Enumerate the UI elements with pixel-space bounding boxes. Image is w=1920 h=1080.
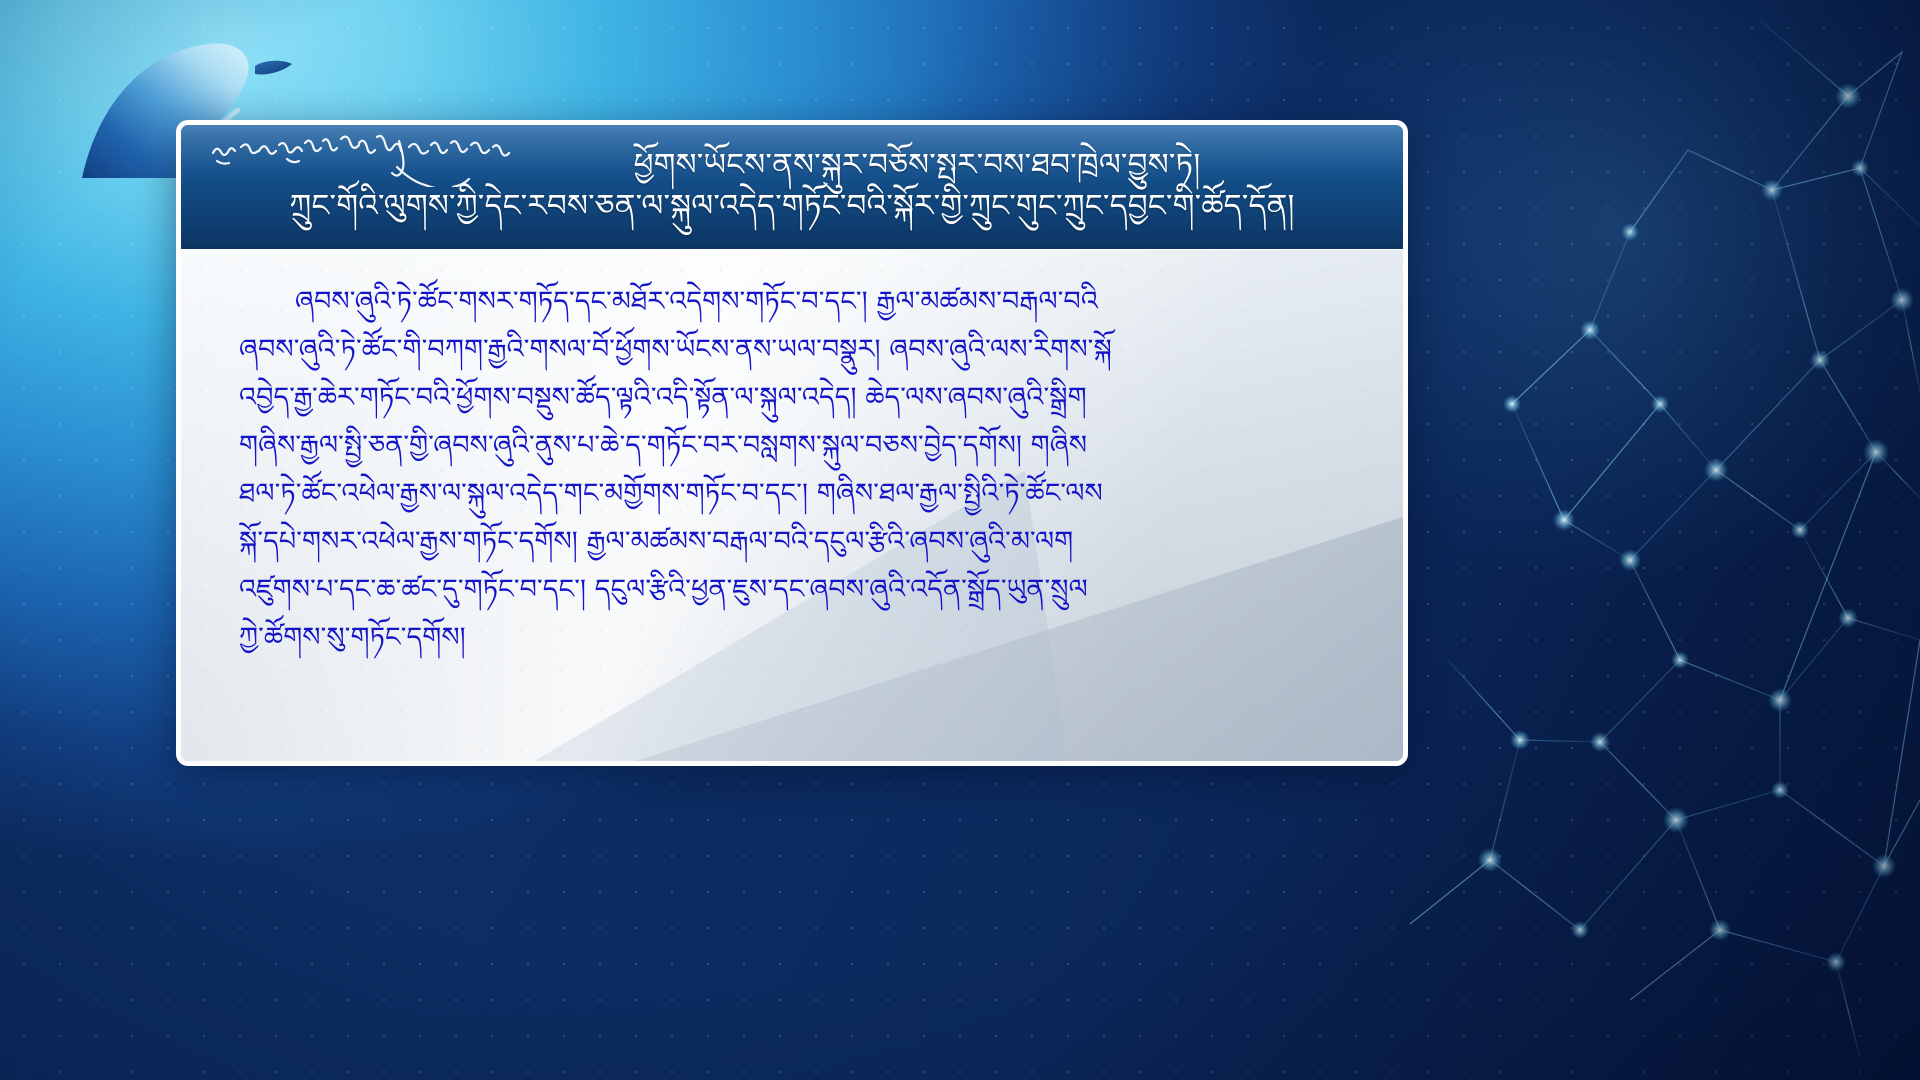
card-body-panel: ཞབས་ཞུའི་ཏེ་ཚོང་གསར་གཏོད་དང་མཐོར་འདེགས་ག…	[176, 250, 1408, 766]
body-line: སྐོ་དཔེ་གསར་འཕེལ་རྒྱས་གཏོང་དགོས། རྒྱལ་མཚ…	[239, 518, 1347, 566]
card-header: ཕྱོགས་ཡོངས་ནས་སྐུར་བཅོས་སྤར་བས་ཐབ་ཁྲེལ་བ…	[176, 120, 1408, 254]
body-line: ཞབས་ཞུའི་ཏེ་ཚོང་གསར་གཏོད་དང་མཐོར་འདེགས་ག…	[239, 278, 1347, 326]
body-line: འབྱེད་རྒྱ་ཆེར་གཏོང་བའི་ཕྱོགས་བསྡུས་ཚོད་ལ…	[239, 374, 1347, 422]
body-line: ཞབས་ཞུའི་ཏེ་ཚོང་གི་བཀག་རྒྱའི་གསལ་བོ་ཕྱོག…	[239, 326, 1347, 374]
header-title-line-2: ཀྲུང་གོའི་ལུགས་ཀྱི་དེང་རབས་ཅན་ལ་སྐུལ་འདེ…	[193, 186, 1391, 227]
body-line: ཐལ་ཏེ་ཚོང་འཕེལ་རྒྱས་ལ་སྐུལ་འདེད་གང་མགྱོག…	[239, 470, 1347, 518]
header-title-block: ཕྱོགས་ཡོངས་ནས་སྐུར་བཅོས་སྤར་བས་ཐབ་ཁྲེལ་བ…	[181, 125, 1403, 249]
article-body-text: ཞབས་ཞུའི་ཏེ་ཚོང་གསར་གཏོད་དང་མཐོར་འདེགས་ག…	[181, 278, 1403, 662]
body-line: ཀྱེ་ཚོགས་སུ་གཏོང་དགོས།	[239, 614, 1347, 662]
news-card: ཕྱོགས་ཡོངས་ནས་སྐུར་བཅོས་སྤར་བས་ཐབ་ཁྲེལ་བ…	[176, 120, 1408, 766]
broadcast-graphic-stage: ཕྱོགས་ཡོངས་ནས་སྐུར་བཅོས་སྤར་བས་ཐབ་ཁྲེལ་བ…	[0, 0, 1920, 1080]
body-line: གཞིས་རྒྱལ་སྤྱི་ཅན་གྱི་ཞབས་ཞུའི་ནུས་པ་ཆེ་…	[239, 422, 1347, 470]
body-line: འཛུགས་པ་དང་ཆ་ཚང་དུ་གཏོང་བ་དང་། དངུལ་རྩིའ…	[239, 566, 1347, 614]
header-title-line-1: ཕྱོགས་ཡོངས་ནས་སྐུར་བཅོས་སྤར་བས་ཐབ་ཁྲེལ་བ…	[193, 145, 1391, 186]
